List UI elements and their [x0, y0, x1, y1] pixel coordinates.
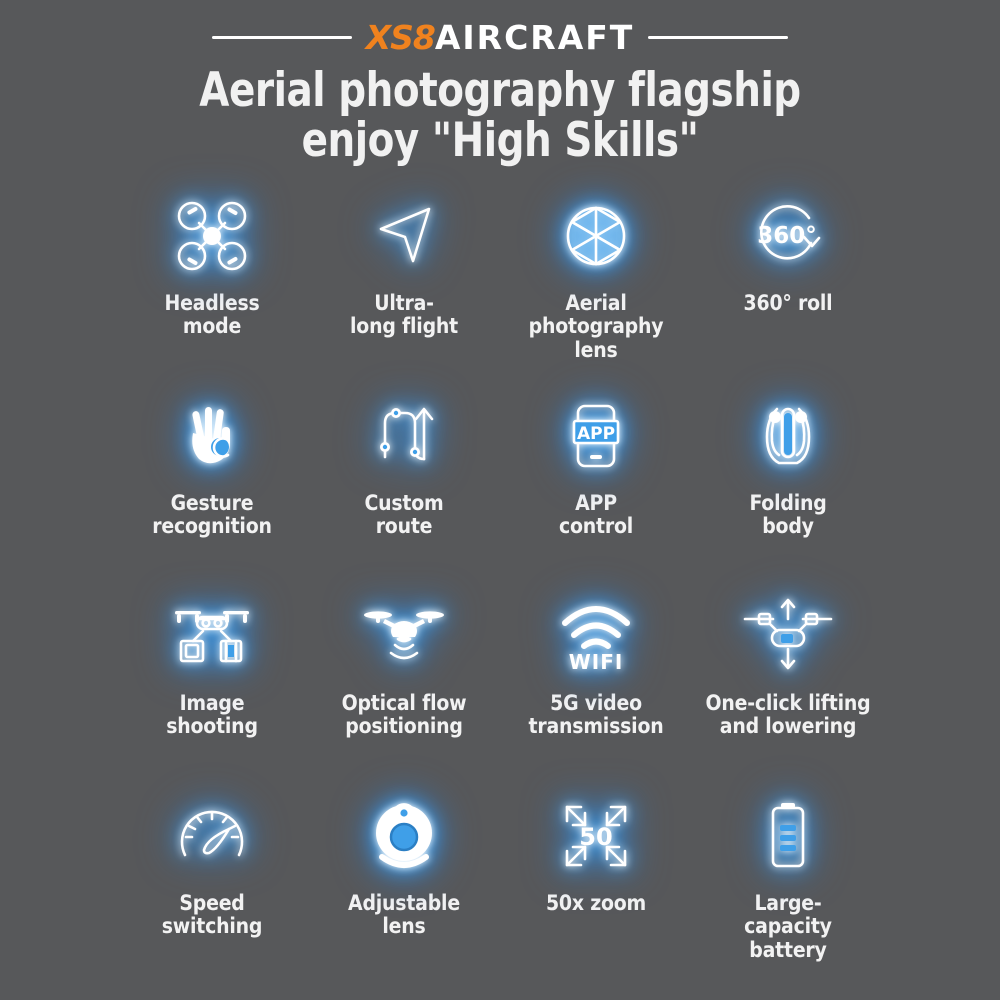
feature-label: 360° roll [744, 292, 833, 316]
battery-icon [749, 788, 827, 884]
feature-item: Gesture recognition [116, 382, 308, 582]
headline-line-2: enjoy "High Skills" [40, 116, 960, 166]
feature-item: Large- capacity battery [692, 782, 884, 982]
feature-grid: Headless mode Ultra- long flight [0, 182, 1000, 982]
headline-line-1: Aerial photography flagship [199, 63, 800, 118]
feature-item: Adjustable lens [308, 782, 500, 982]
brand-model-label: XS8 [366, 18, 435, 57]
feature-label: Custom route [364, 492, 443, 539]
zoom-value: 50 [579, 823, 612, 851]
brand-header: XS8AIRCRAFT [0, 0, 1000, 52]
feature-label: 50x zoom [546, 892, 646, 916]
app-label: APP [577, 424, 615, 444]
feature-label: Gesture recognition [152, 492, 272, 539]
feature-item: Headless mode [116, 182, 308, 382]
feature-label: Speed switching [162, 892, 263, 939]
feature-label: Folding body [749, 492, 826, 539]
waypoint-route-icon [365, 388, 443, 484]
zoom-frame-icon: 50 [557, 788, 635, 884]
feature-item: Custom route [308, 382, 500, 582]
rotation-value: 360° [757, 223, 817, 249]
feature-label: Image shooting [166, 692, 258, 739]
drone-lift-lower-icon [741, 588, 835, 684]
feature-label: One-click lifting and lowering [706, 692, 871, 739]
drone-photo-video-icon [169, 588, 255, 684]
feature-item: APP APP control [500, 382, 692, 582]
promo-page: XS8AIRCRAFT Aerial photography flagship … [0, 0, 1000, 1000]
feature-label: Optical flow positioning [342, 692, 467, 739]
drone-optical-flow-icon [361, 588, 447, 684]
feature-item: 360° 360° roll [692, 182, 884, 382]
feature-label: Large- capacity battery [744, 892, 832, 963]
feature-label: 5G video transmission [529, 692, 664, 739]
ok-hand-gesture-icon [173, 388, 251, 484]
adjustable-camera-lens-icon [365, 788, 443, 884]
feature-label: APP control [559, 492, 633, 539]
feature-item: Optical flow positioning [308, 582, 500, 782]
quadcopter-drone-icon [173, 188, 251, 284]
brand-logo: XS8AIRCRAFT [366, 21, 635, 54]
feature-item: Aerial photography lens [500, 182, 692, 382]
brand-product-label: AIRCRAFT [435, 18, 634, 57]
phone-app-icon: APP [557, 388, 635, 484]
wifi-signal-icon: WIFI [555, 588, 637, 684]
left-rule-divider [212, 36, 352, 39]
right-rule-divider [648, 36, 788, 39]
feature-label: Ultra- long flight [350, 292, 458, 339]
feature-item: Folding body [692, 382, 884, 582]
folding-drone-body-icon [749, 388, 827, 484]
navigation-arrow-icon [365, 188, 443, 284]
feature-item: One-click lifting and lowering [692, 582, 884, 782]
camera-aperture-icon [557, 188, 635, 284]
feature-label: Headless mode [164, 292, 259, 339]
feature-item: Image shooting [116, 582, 308, 782]
feature-item: WIFI 5G video transmission [500, 582, 692, 782]
feature-item: 50 50x zoom [500, 782, 692, 982]
feature-label: Adjustable lens [348, 892, 460, 939]
360-rotation-icon: 360° [749, 188, 827, 284]
feature-label: Aerial photography lens [529, 292, 664, 363]
speedometer-icon [173, 788, 251, 884]
page-title: Aerial photography flagship enjoy "High … [40, 66, 960, 166]
feature-item: Speed switching [116, 782, 308, 982]
wifi-label: WIFI [569, 650, 624, 674]
feature-item: Ultra- long flight [308, 182, 500, 382]
